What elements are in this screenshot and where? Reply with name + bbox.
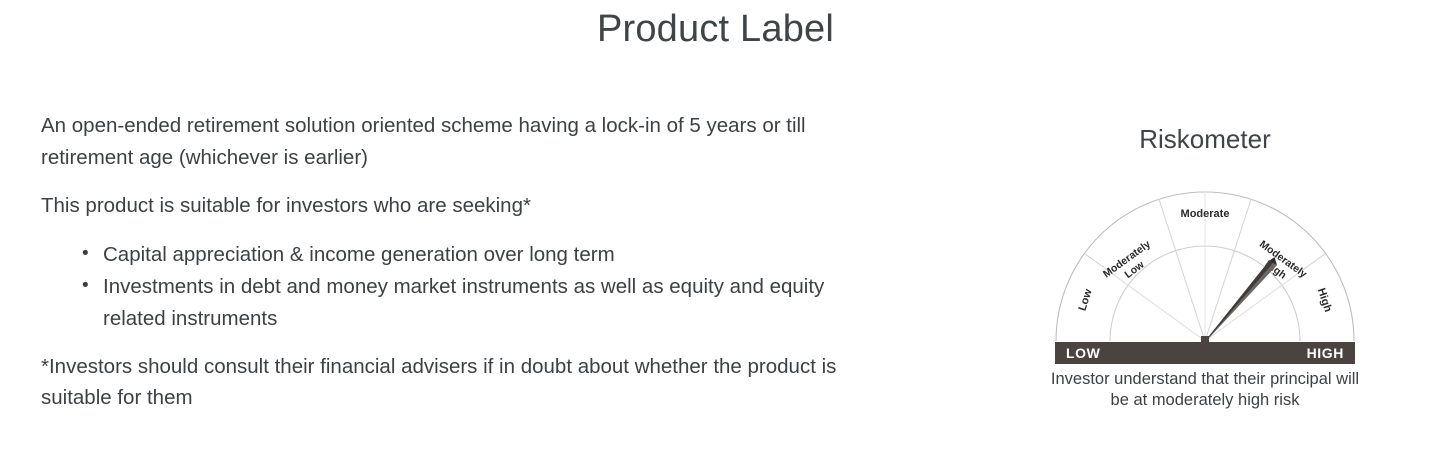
- gauge-bar-label-high: HIGH: [1307, 345, 1344, 361]
- riskometer-gauge-svg: Low Moderately Low Moderate Moderately H…: [1055, 168, 1355, 364]
- page-title: Product Label: [0, 2, 1431, 56]
- suitability-bullet-list: Capital appreciation & income generation…: [41, 239, 891, 335]
- list-item: Capital appreciation & income generation…: [103, 239, 891, 271]
- suitability-heading: This product is suitable for investors w…: [41, 190, 881, 222]
- product-label-text-column: An open-ended retirement solution orient…: [41, 110, 891, 431]
- riskometer-panel: Riskometer Low Modera: [1040, 122, 1370, 411]
- gauge-bar-label-low: LOW: [1066, 345, 1101, 361]
- riskometer-title: Riskometer: [1040, 122, 1370, 156]
- list-item: Investments in debt and money market ins…: [103, 271, 891, 335]
- gauge-segment-label-moderate: Moderate: [1181, 208, 1230, 220]
- gauge-label-moderate-text: Moderate: [1181, 208, 1230, 220]
- needle-hub: [1201, 336, 1209, 342]
- riskometer-gauge: Low Moderately Low Moderate Moderately H…: [1055, 168, 1355, 364]
- riskometer-caption: Investor understand that their principal…: [1040, 369, 1370, 411]
- footnote-disclaimer: *Investors should consult their financia…: [41, 351, 871, 414]
- scheme-description-paragraph: An open-ended retirement solution orient…: [41, 110, 871, 173]
